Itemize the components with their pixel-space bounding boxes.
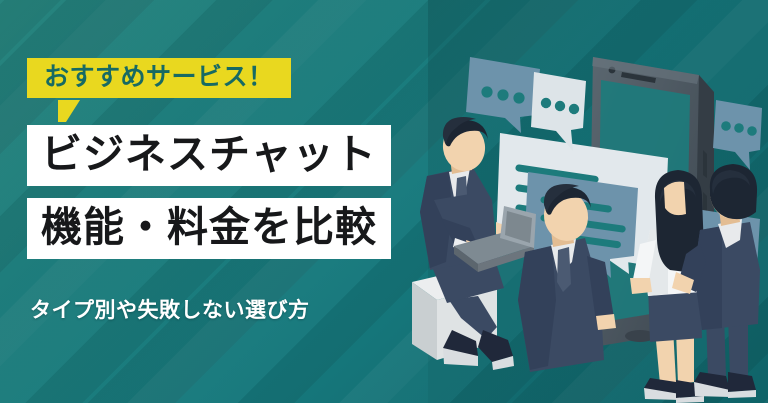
subtitle: タイプ別や失敗しない選び方 bbox=[30, 298, 310, 323]
text-column: おすすめサービス！ ビジネスチャット 機能・料金を比較 タイプ別や失敗しない選び… bbox=[0, 0, 460, 403]
title-box-line1: ビジネスチャット bbox=[27, 125, 391, 186]
chat-bubble-blue-top-left bbox=[466, 57, 540, 133]
page-title-line2: 機能・料金を比較 bbox=[41, 204, 377, 251]
page-title-line1: ビジネスチャット bbox=[41, 131, 377, 178]
recommendation-badge: おすすめサービス！ bbox=[27, 58, 291, 98]
chat-bubble-blue-right bbox=[713, 100, 762, 170]
badge-tail bbox=[58, 100, 80, 122]
badge-label: おすすめサービス！ bbox=[44, 65, 274, 90]
title-box-line2: 機能・料金を比較 bbox=[27, 198, 391, 259]
banner: おすすめサービス！ ビジネスチャット 機能・料金を比較 タイプ別や失敗しない選び… bbox=[0, 0, 768, 403]
